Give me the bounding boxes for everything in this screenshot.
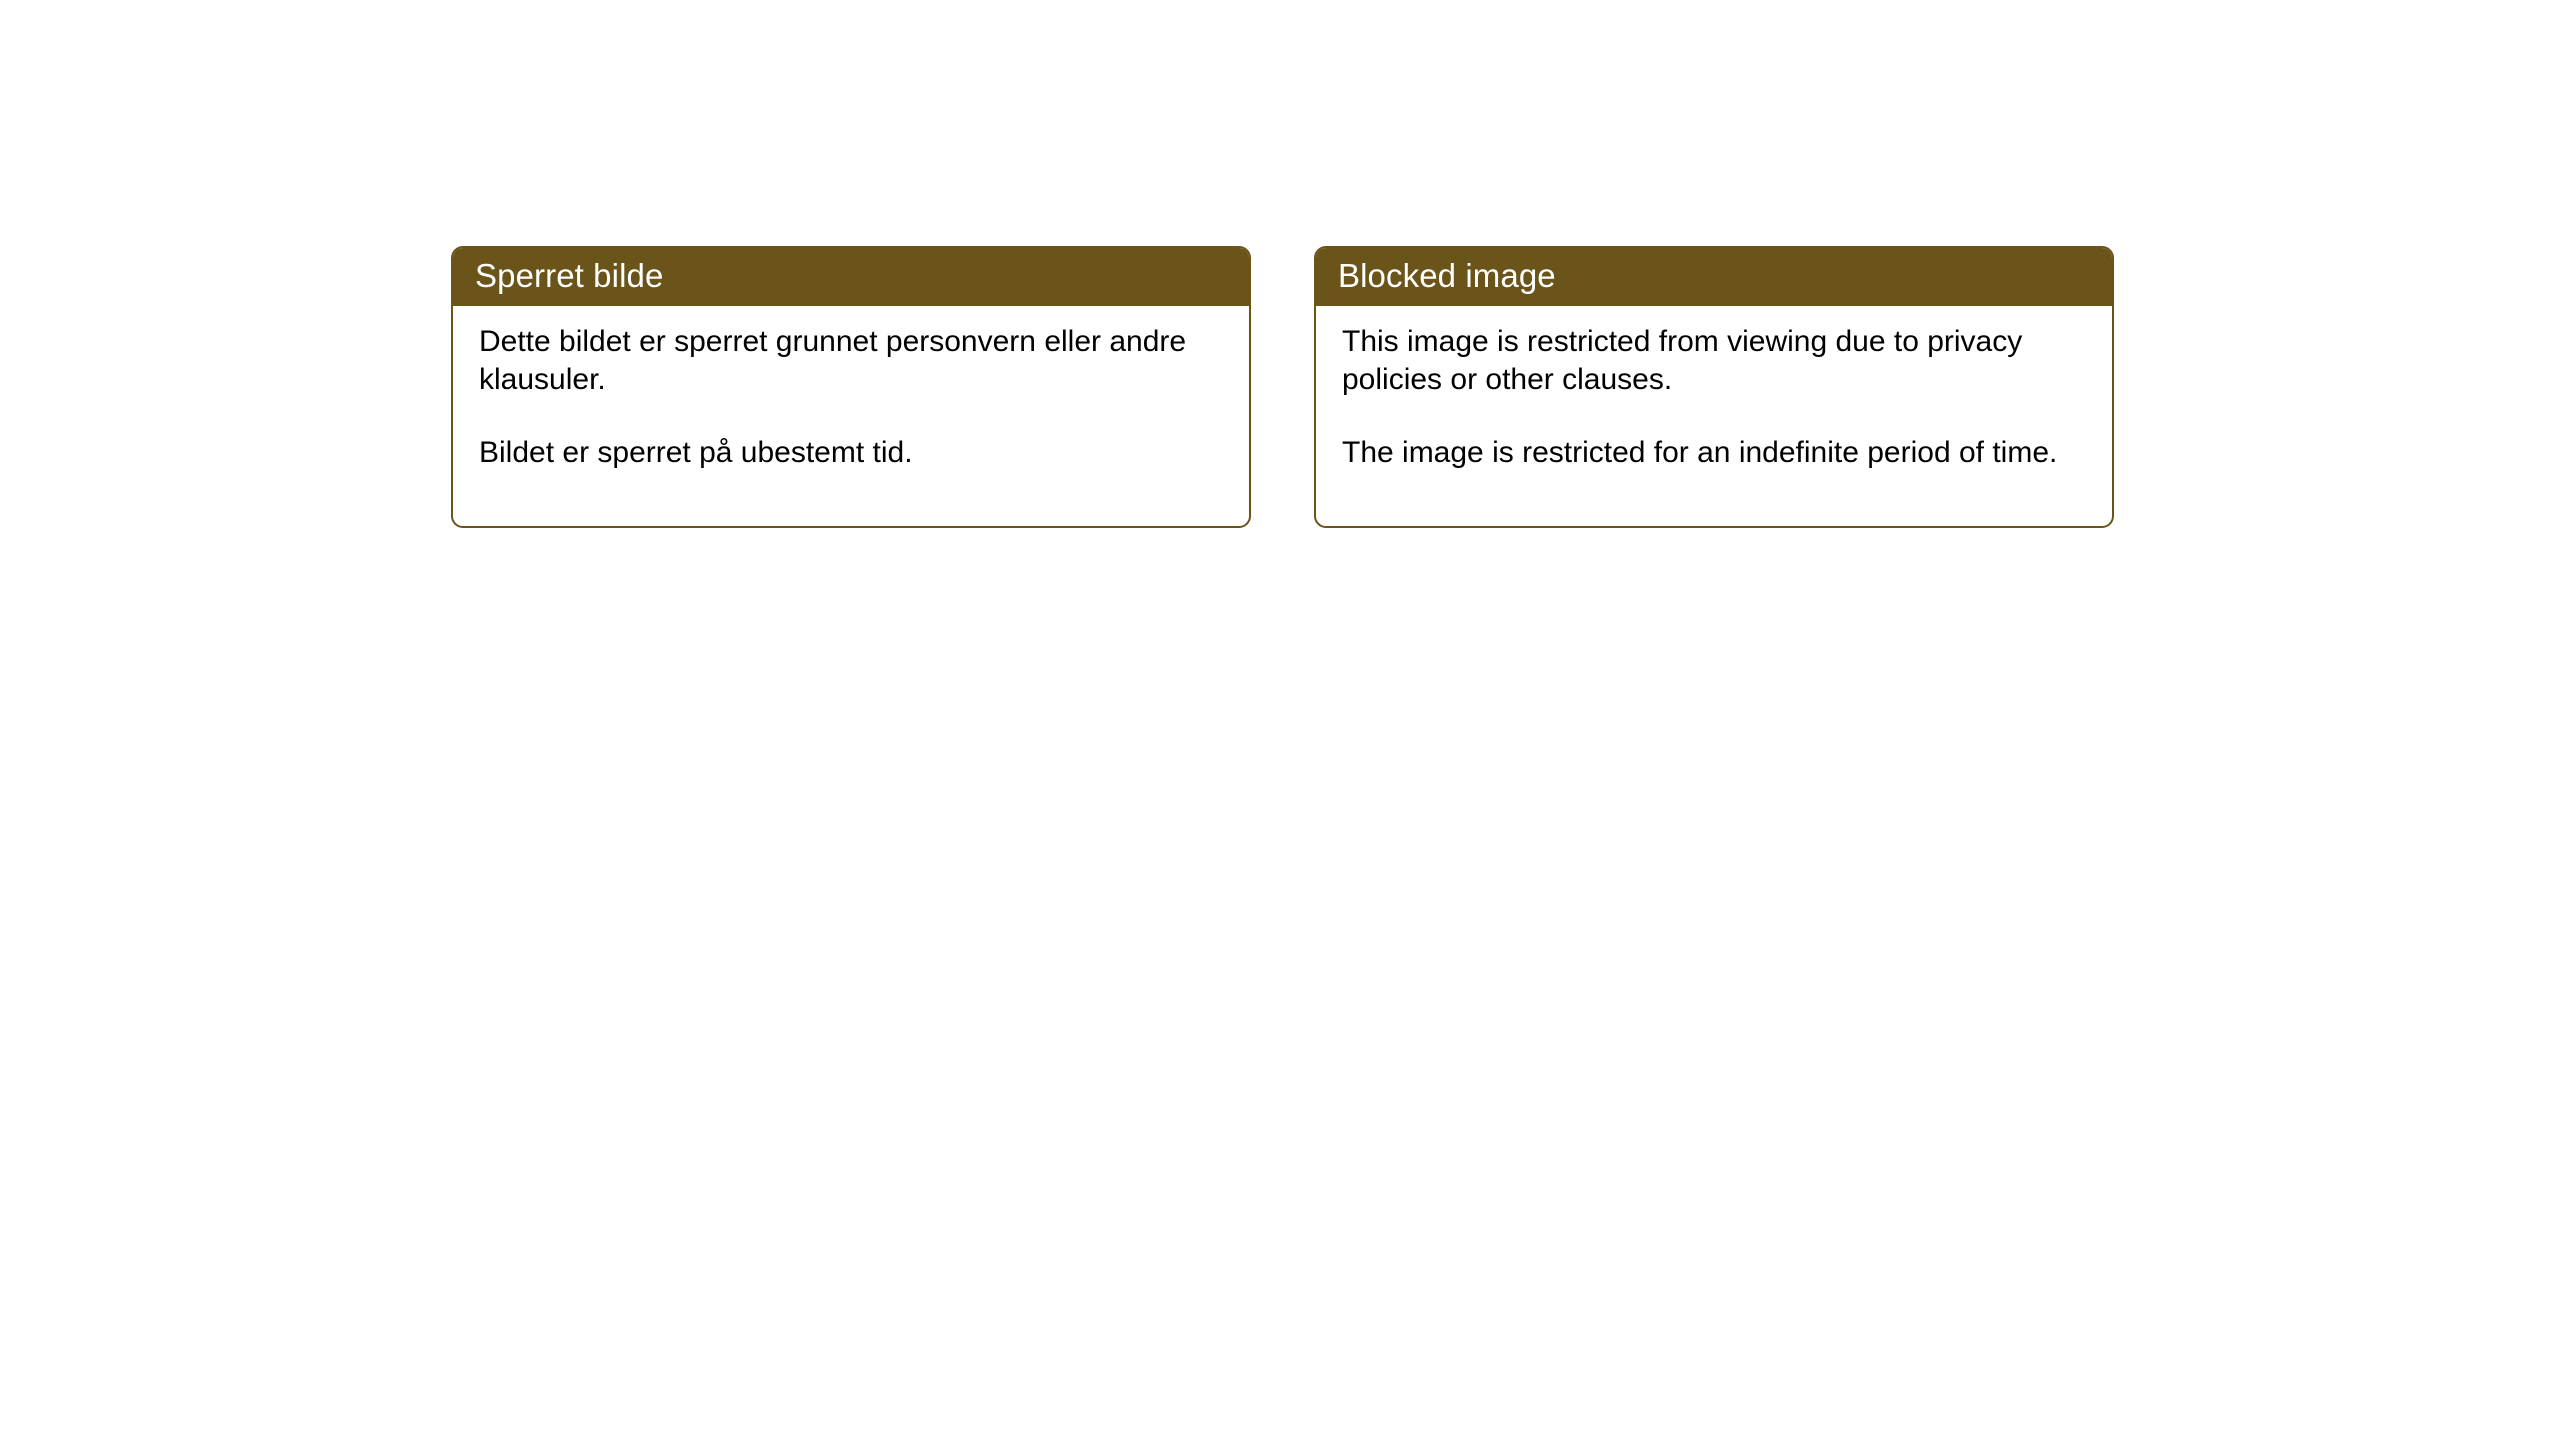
card-paragraph: Bildet er sperret på ubestemt tid. — [479, 434, 1209, 472]
card-body-en: This image is restricted from viewing du… — [1316, 306, 2112, 526]
card-body-no: Dette bildet er sperret grunnet personve… — [453, 306, 1249, 526]
blocked-image-card-no: Sperret bilde Dette bildet er sperret gr… — [451, 246, 1251, 528]
card-title-en: Blocked image — [1314, 246, 2114, 306]
card-paragraph: This image is restricted from viewing du… — [1342, 323, 2072, 400]
blocked-image-card-en: Blocked image This image is restricted f… — [1314, 246, 2114, 528]
card-title-no: Sperret bilde — [451, 246, 1251, 306]
card-paragraph: Dette bildet er sperret grunnet personve… — [479, 323, 1209, 400]
blocked-image-notice-group: Sperret bilde Dette bildet er sperret gr… — [451, 246, 2114, 528]
page-canvas: Sperret bilde Dette bildet er sperret gr… — [0, 0, 2560, 1440]
card-paragraph: The image is restricted for an indefinit… — [1342, 434, 2072, 472]
